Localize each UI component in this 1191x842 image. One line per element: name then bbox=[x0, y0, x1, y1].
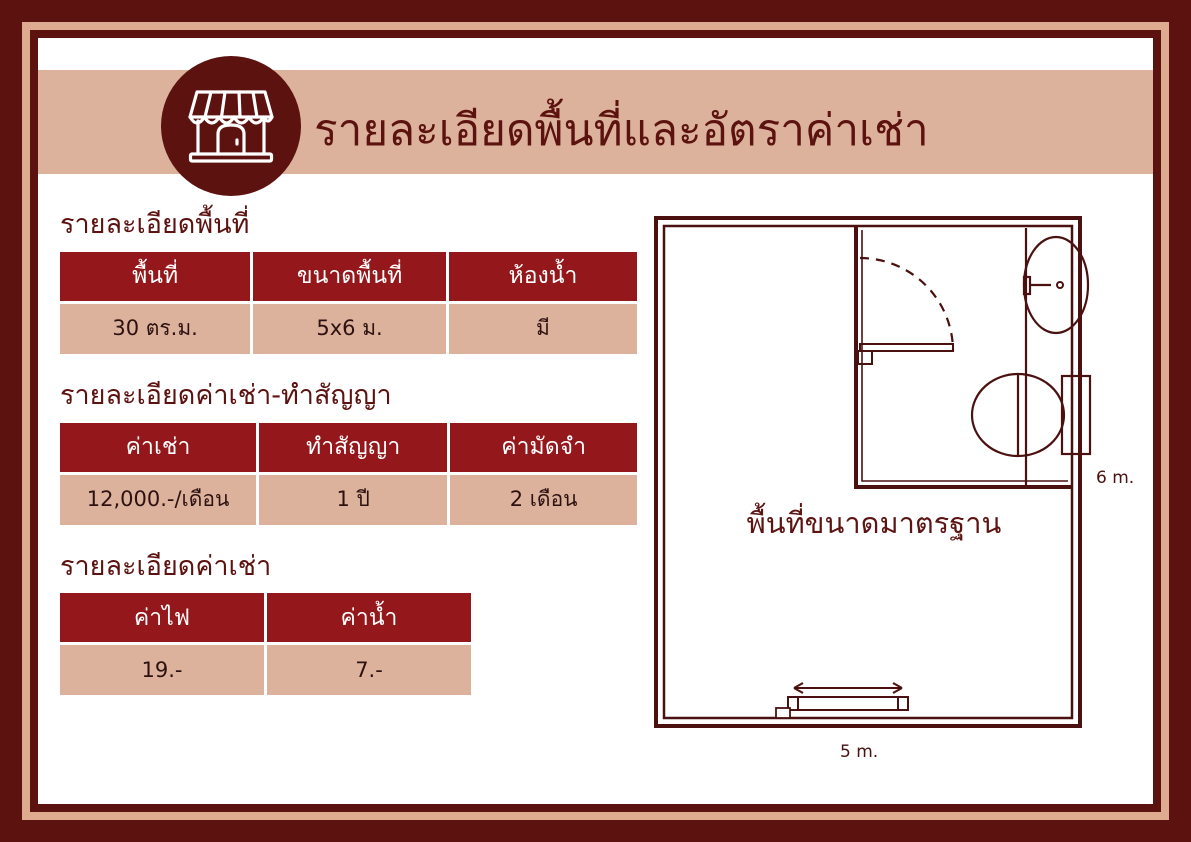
details-column: รายละเอียดพื้นที่ พื้นที่ ขนาดพื้นที่ ห้… bbox=[60, 208, 640, 720]
table-cell: มี bbox=[449, 304, 637, 354]
door-leaf bbox=[860, 344, 953, 351]
poster-page: รายละเอียดพื้นที่และอัตราค่าเช่า รายละเอ… bbox=[0, 0, 1191, 842]
table-row: 12,000.-/เดือน 1 ปี 2 เดือน bbox=[60, 475, 637, 525]
column-header: ค่าไฟ bbox=[60, 593, 264, 642]
bathroom-partition-inner-line bbox=[862, 230, 1068, 481]
table-row: 19.- 7.- bbox=[60, 645, 471, 695]
table-cell: 5x6 ม. bbox=[253, 304, 446, 354]
column-header: ค่ามัดจำ bbox=[450, 423, 637, 472]
utility-rates-table: ค่าไฟ ค่าน้ำ 19.- 7.- bbox=[57, 590, 474, 698]
section-title: รายละเอียดค่าเช่า-ทำสัญญา bbox=[60, 379, 640, 413]
sliding-door-panels bbox=[788, 697, 908, 710]
shop-storefront-icon bbox=[188, 84, 274, 168]
table-cell: 19.- bbox=[60, 645, 264, 695]
page-title: รายละเอียดพื้นที่และอัตราค่าเช่า bbox=[314, 94, 929, 166]
content-canvas: รายละเอียดพื้นที่และอัตราค่าเช่า รายละเอ… bbox=[38, 38, 1153, 804]
sink-drain bbox=[1057, 282, 1063, 288]
table-header-row: พื้นที่ ขนาดพื้นที่ ห้องน้ำ bbox=[60, 252, 637, 301]
plan-center-label: พื้นที่ขนาดมาตรฐาน bbox=[704, 500, 1044, 546]
table-cell: 1 ปี bbox=[259, 475, 447, 525]
dimension-label-width: 5 m. bbox=[840, 742, 878, 762]
dimension-label-height: 6 m. bbox=[1096, 468, 1134, 488]
section-rent-contract-details: รายละเอียดค่าเช่า-ทำสัญญา ค่าเช่า ทำสัญญ… bbox=[60, 379, 640, 528]
table-row: 30 ตร.ม. 5x6 ม. มี bbox=[60, 304, 637, 354]
column-header: พื้นที่ bbox=[60, 252, 250, 301]
table-cell: 2 เดือน bbox=[450, 475, 637, 525]
table-header-row: ค่าไฟ ค่าน้ำ bbox=[60, 593, 471, 642]
door-jamb bbox=[858, 351, 872, 364]
door-swing-arc bbox=[860, 258, 953, 351]
toilet-cistern bbox=[1062, 376, 1090, 454]
table-cell: 12,000.-/เดือน bbox=[60, 475, 256, 525]
column-header: ห้องน้ำ bbox=[449, 252, 637, 301]
outer-wall-outline bbox=[656, 218, 1080, 726]
table-header-row: ค่าเช่า ทำสัญญา ค่ามัดจำ bbox=[60, 423, 637, 472]
column-header: ทำสัญญา bbox=[259, 423, 447, 472]
bathroom-partition-wall bbox=[856, 226, 1072, 487]
section-area-details: รายละเอียดพื้นที่ พื้นที่ ขนาดพื้นที่ ห้… bbox=[60, 208, 640, 357]
column-header: ค่าเช่า bbox=[60, 423, 256, 472]
section-title: รายละเอียดค่าเช่า bbox=[60, 550, 640, 584]
door-threshold-notch bbox=[776, 708, 790, 718]
table-cell: 30 ตร.ม. bbox=[60, 304, 250, 354]
outer-wall-inner-line bbox=[664, 226, 1072, 718]
floor-plan-drawing bbox=[648, 210, 1148, 770]
column-header: ค่าน้ำ bbox=[267, 593, 471, 642]
table-cell: 7.- bbox=[267, 645, 471, 695]
section-utility-rates: รายละเอียดค่าเช่า ค่าไฟ ค่าน้ำ 19.- 7.- bbox=[60, 550, 640, 699]
column-header: ขนาดพื้นที่ bbox=[253, 252, 446, 301]
floor-plan: พื้นที่ขนาดมาตรฐาน 6 m. 5 m. bbox=[648, 210, 1148, 770]
section-title: รายละเอียดพื้นที่ bbox=[60, 208, 640, 242]
area-details-table: พื้นที่ ขนาดพื้นที่ ห้องน้ำ 30 ตร.ม. 5x6… bbox=[57, 249, 640, 357]
rent-contract-table: ค่าเช่า ทำสัญญา ค่ามัดจำ 12,000.-/เดือน … bbox=[57, 420, 640, 528]
